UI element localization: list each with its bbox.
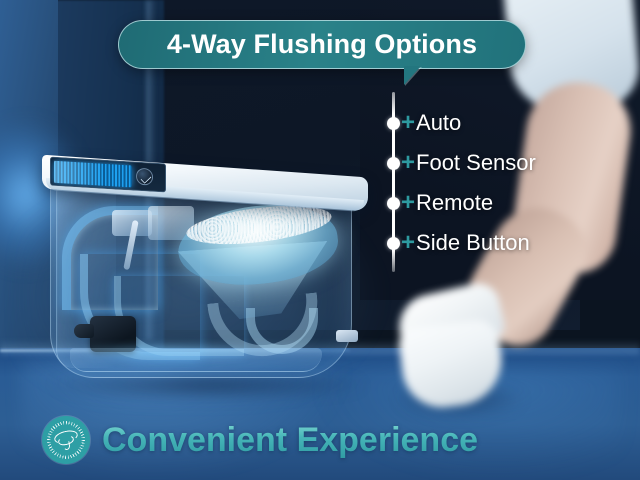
outlet-nozzle <box>336 330 358 342</box>
bullet-dot-icon <box>387 237 400 250</box>
bullet-dot-icon <box>387 197 400 210</box>
plus-icon: + <box>401 111 415 135</box>
feature-label: Auto <box>416 110 461 136</box>
feature-label: Foot Sensor <box>416 150 536 176</box>
plus-icon: + <box>401 231 415 255</box>
bullet-dot-icon <box>387 117 400 130</box>
bottom-banner-text: Convenient Experience <box>102 421 478 460</box>
feature-item-remote[interactable]: + Remote <box>384 188 634 218</box>
control-panel-glare <box>54 161 132 188</box>
plus-icon: + <box>401 151 415 175</box>
swirl-glyph <box>54 429 78 451</box>
feature-item-side-button[interactable]: + Side Button <box>384 228 634 258</box>
feature-list: + Auto + Foot Sensor + Remote + Side But… <box>384 92 634 274</box>
headline-callout-tail <box>404 66 421 85</box>
water-swirl-icon <box>42 416 90 464</box>
plus-icon: + <box>401 191 415 215</box>
feature-label: Side Button <box>416 230 530 256</box>
promo-image-root: 4-Way Flushing Options + Auto + Foot Sen… <box>0 0 640 480</box>
bullet-dot-icon <box>387 157 400 170</box>
feature-label: Remote <box>416 190 493 216</box>
feature-item-auto[interactable]: + Auto <box>384 108 634 138</box>
product-smart-toilet <box>28 158 380 396</box>
base-plate <box>70 348 322 372</box>
feature-item-foot-sensor[interactable]: + Foot Sensor <box>384 148 634 178</box>
bottom-banner: Convenient Experience <box>0 410 640 470</box>
chevron-down-icon[interactable] <box>136 168 153 186</box>
headline-banner: 4-Way Flushing Options <box>118 20 526 69</box>
headline-text: 4-Way Flushing Options <box>167 29 477 60</box>
